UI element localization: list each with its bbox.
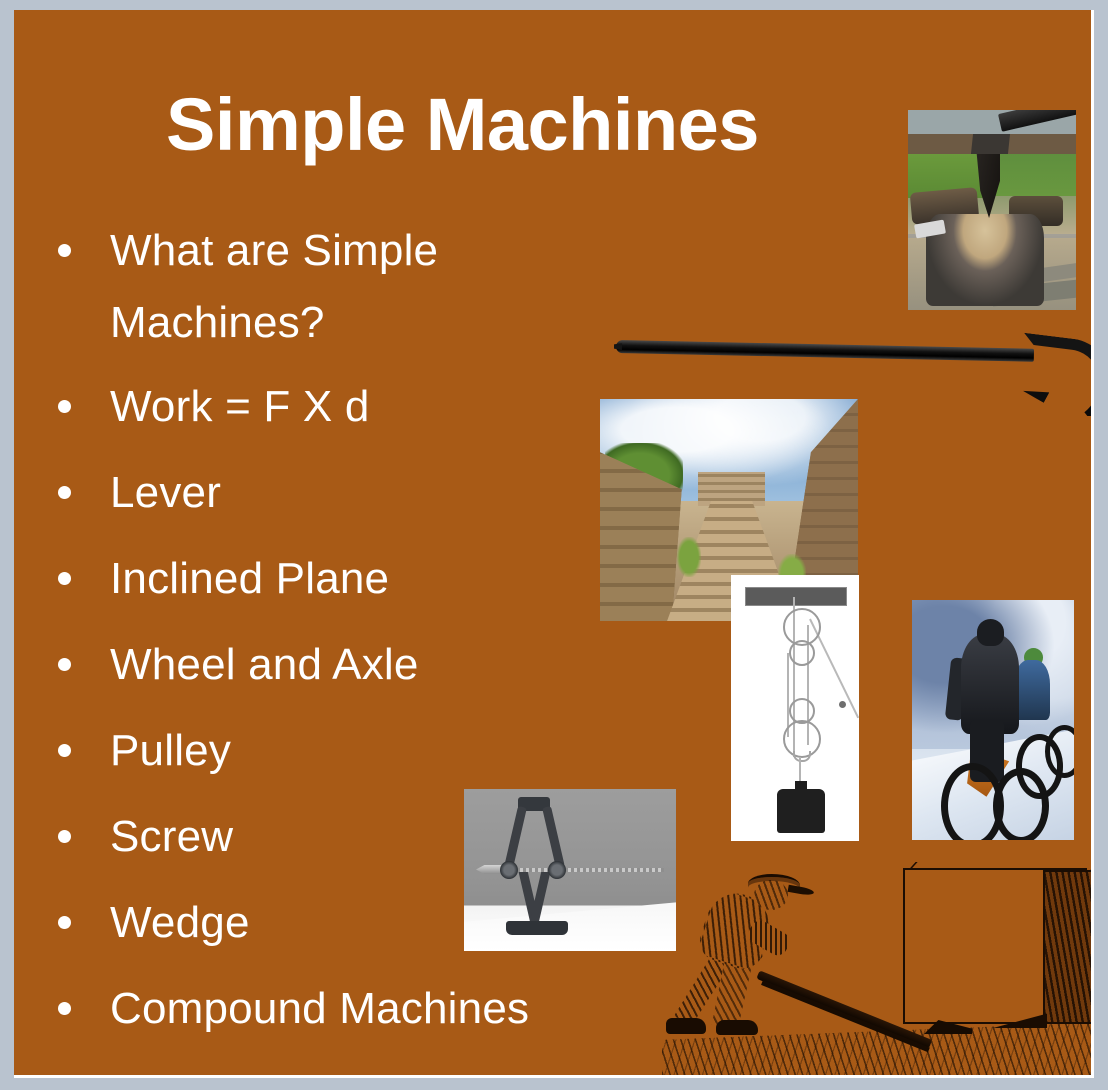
- list-item: Pulley: [32, 715, 652, 787]
- bullet-dot-icon: [58, 572, 71, 585]
- hanging-weight: [777, 789, 825, 833]
- list-item: Lever: [32, 457, 652, 529]
- snow-cyclists-photo: [912, 600, 1074, 840]
- threaded-screw-rod: [514, 868, 664, 872]
- floor-surface: [464, 902, 676, 951]
- worker-boot: [716, 1020, 758, 1035]
- bullet-dot-icon: [58, 244, 71, 257]
- list-item-label: What are Simple: [110, 226, 438, 275]
- rope-end-handle: [839, 701, 846, 708]
- bullet-dot-icon: [58, 1002, 71, 1015]
- list-item-label: Lever: [110, 457, 652, 529]
- list-item: Wheel and Axle: [32, 629, 652, 701]
- list-item-label: Work = F X d: [110, 371, 652, 443]
- bullet-dot-icon: [58, 916, 71, 929]
- list-item: Inclined Plane: [32, 543, 652, 615]
- stone-block-side-face: [1043, 870, 1091, 1024]
- bullet-dot-icon: [58, 486, 71, 499]
- bullet-dot-icon: [58, 658, 71, 671]
- list-item-label: Inclined Plane: [110, 543, 652, 615]
- bullet-dot-icon: [58, 830, 71, 843]
- list-item-label-line2: Machines?: [110, 287, 652, 359]
- bullet-dot-icon: [58, 400, 71, 413]
- ivy-plant: [677, 537, 700, 577]
- list-item: What are Simple Machines?: [32, 215, 652, 359]
- worker-cap: [748, 874, 800, 895]
- pulley-wheel: [789, 640, 815, 666]
- lower-block-hook: [793, 751, 811, 762]
- slide-canvas: Simple Machines What are Simple Machines…: [14, 10, 1091, 1075]
- axe-handle: [998, 110, 1076, 132]
- jack-base: [506, 921, 568, 935]
- block-and-tackle-pulley-diagram: [731, 575, 859, 841]
- list-item: Compound Machines: [32, 973, 652, 1045]
- axe-poll: [971, 134, 1010, 154]
- list-item-label: Pulley: [110, 715, 652, 787]
- jack-arm: [542, 806, 565, 868]
- crowbar-hook: [1013, 333, 1091, 416]
- crowbar-shaft: [616, 340, 1034, 362]
- jack-pivot: [548, 861, 566, 879]
- axe-splitting-log-photo: [908, 110, 1076, 310]
- jack-pivot: [500, 861, 518, 879]
- bicycle-wheel: [993, 768, 1049, 840]
- bullet-dot-icon: [58, 744, 71, 757]
- scissor-car-jack-photo: [464, 789, 676, 951]
- jack-arm: [504, 806, 527, 868]
- list-item-label: Wheel and Axle: [110, 629, 652, 701]
- lead-rider-head: [977, 619, 1005, 645]
- second-rider: [1014, 660, 1050, 720]
- list-item: Work = F X d: [32, 371, 652, 443]
- slide-frame: Simple Machines What are Simple Machines…: [0, 0, 1108, 1090]
- man-levering-stone-block-engraving: [662, 862, 1091, 1075]
- list-item-label: Compound Machines: [110, 973, 652, 1045]
- worker-boot: [666, 1018, 706, 1034]
- upper-steps: [698, 472, 765, 505]
- support-beam: [745, 587, 847, 606]
